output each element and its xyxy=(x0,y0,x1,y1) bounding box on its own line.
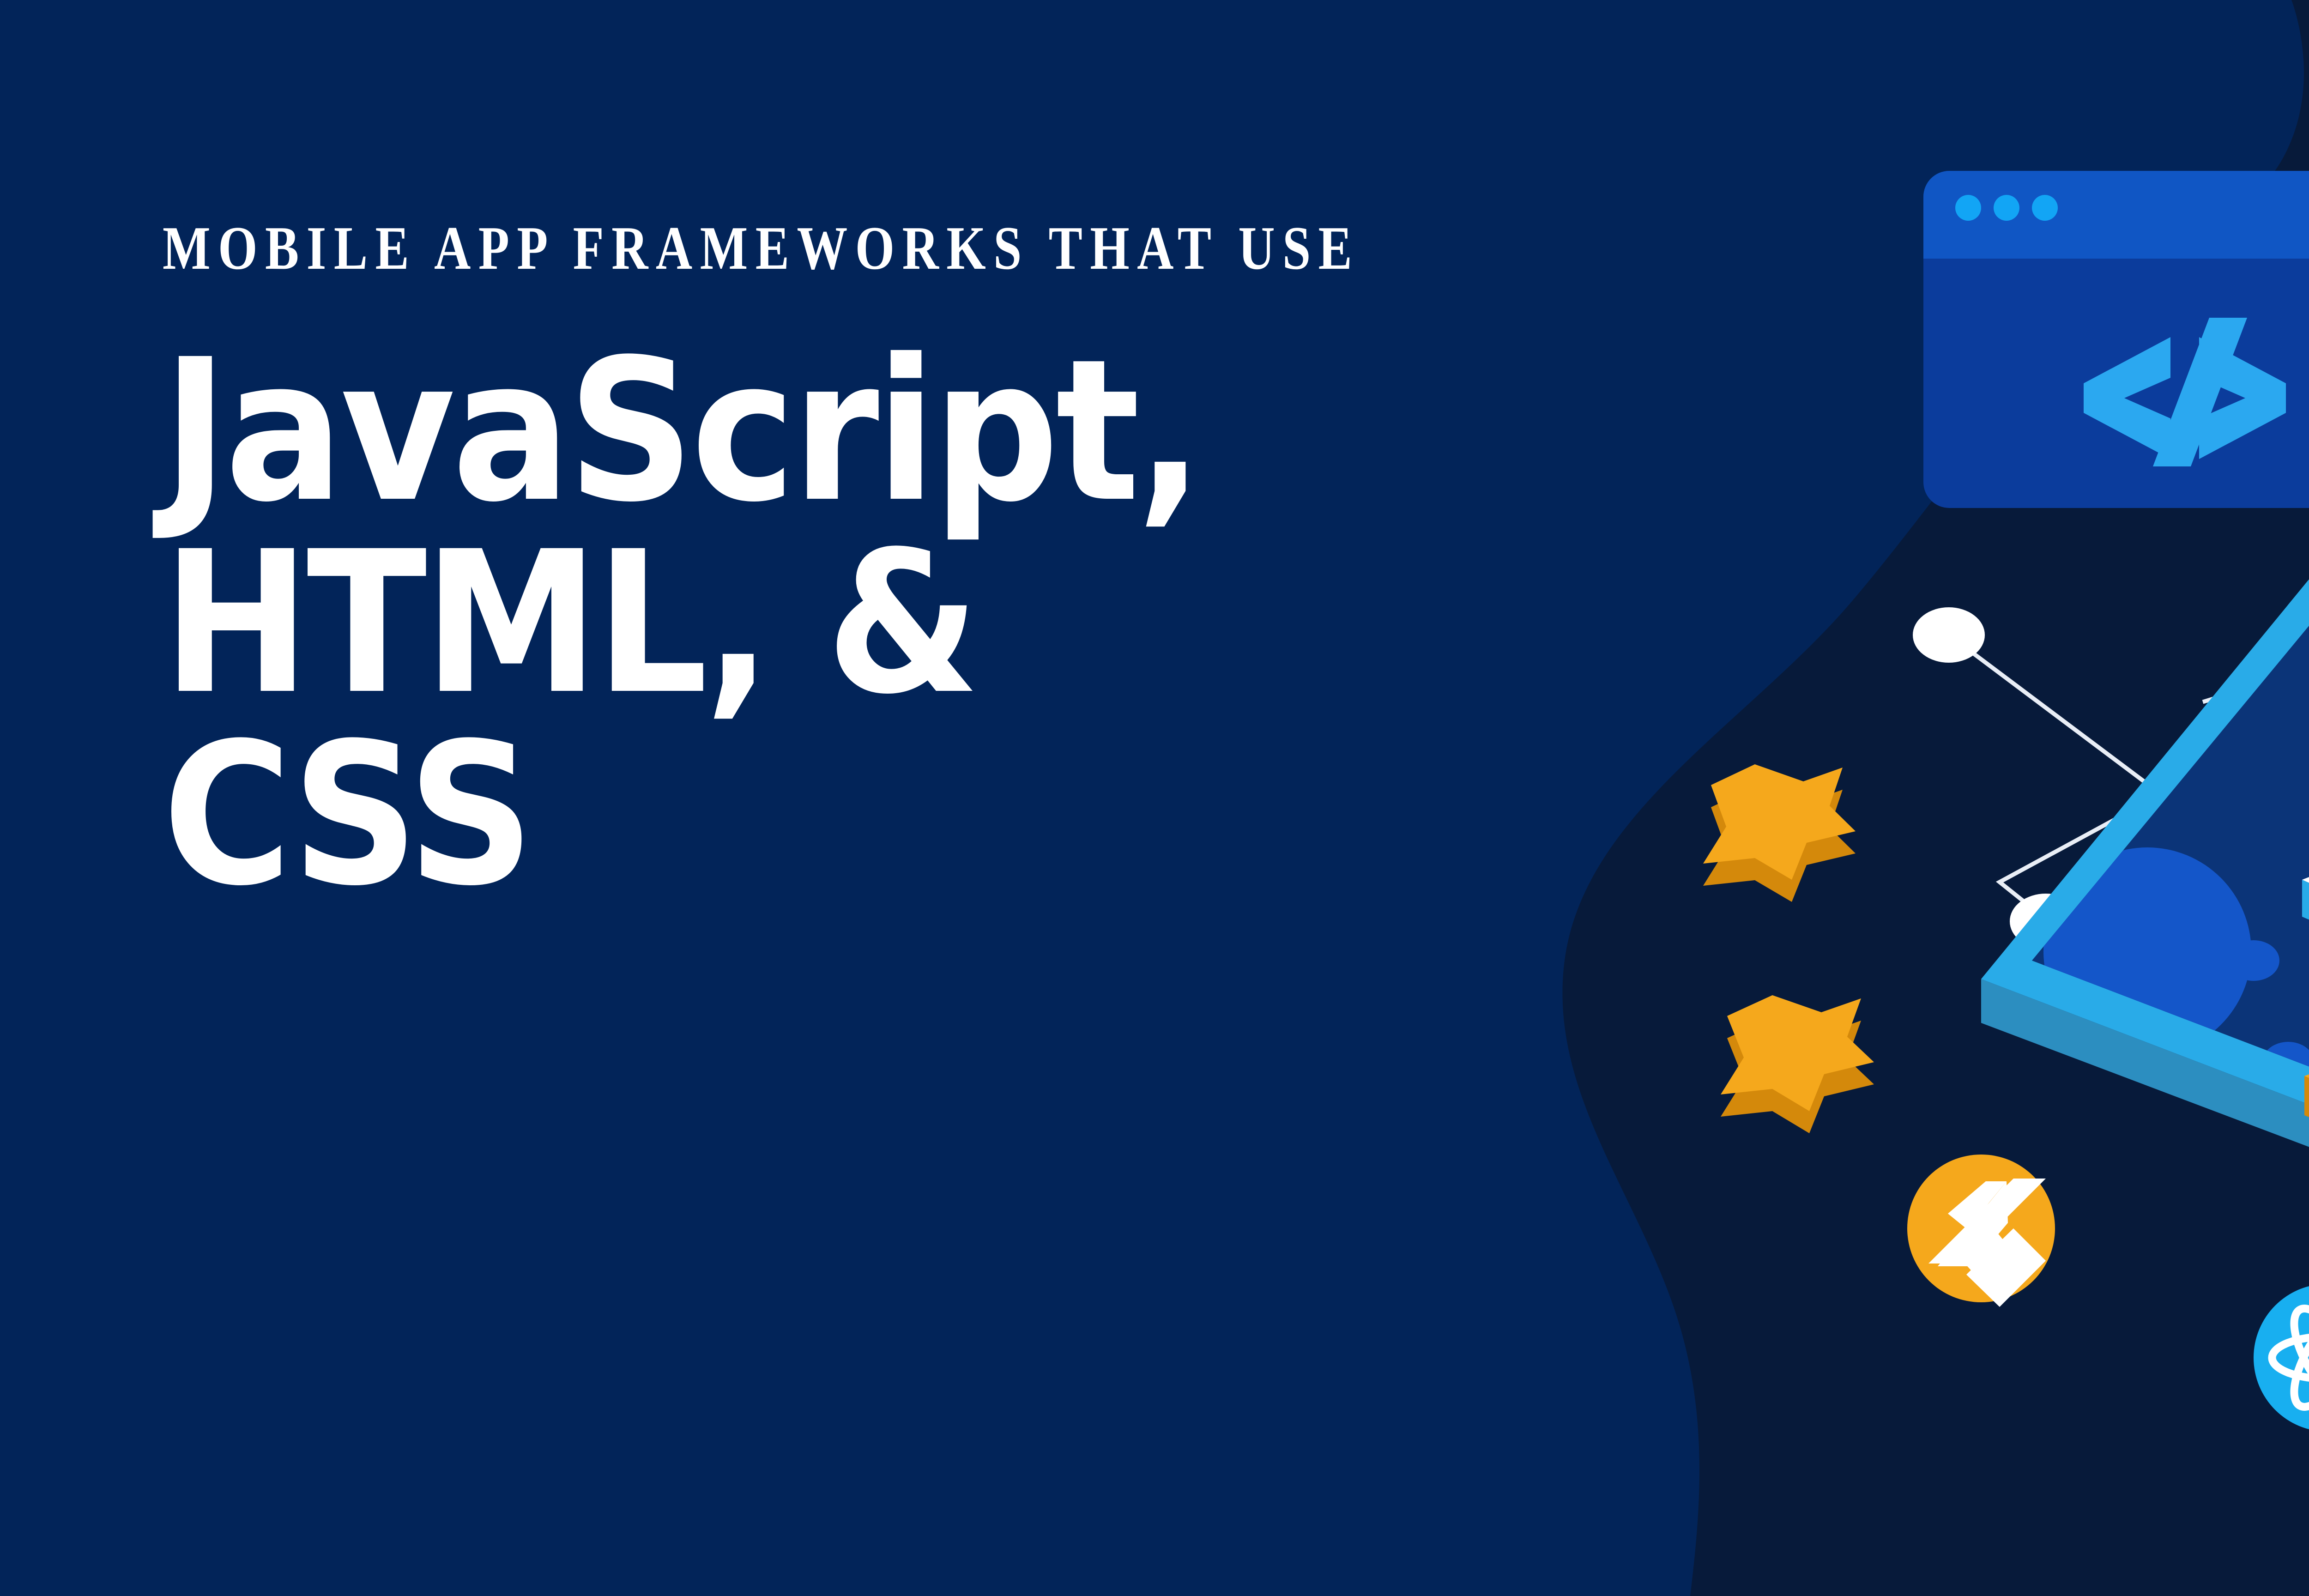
star-lower xyxy=(1721,995,1874,1133)
code-window-titlebar xyxy=(1923,171,2309,259)
code-window[interactable] xyxy=(1923,171,2309,508)
screen-dot xyxy=(2228,940,2279,981)
tilted-smartphone[interactable] xyxy=(1981,568,2309,1224)
badge-react-native[interactable] xyxy=(2254,1284,2309,1432)
code-window-dot xyxy=(2032,195,2058,221)
headline-line-2: HTML, & xyxy=(163,527,1617,719)
code-window-dot xyxy=(1955,195,1981,221)
connector-node xyxy=(1913,607,1985,663)
banner-canvas: MOBILE APP FRAMEWORKS THAT USE JavaScrip… xyxy=(0,0,2309,1596)
kicker-text: MOBILE APP FRAMEWORKS THAT USE xyxy=(163,217,1488,279)
headline-block: MOBILE APP FRAMEWORKS THAT USE JavaScrip… xyxy=(163,217,1779,911)
badge-flutter[interactable] xyxy=(1907,1155,2055,1307)
code-window-dot xyxy=(1994,195,2019,221)
headline-line-3: CSS xyxy=(163,719,1617,911)
headline-line-1: JavaScript, xyxy=(163,335,1617,527)
page-title: JavaScript, HTML, & CSS xyxy=(163,335,1617,911)
